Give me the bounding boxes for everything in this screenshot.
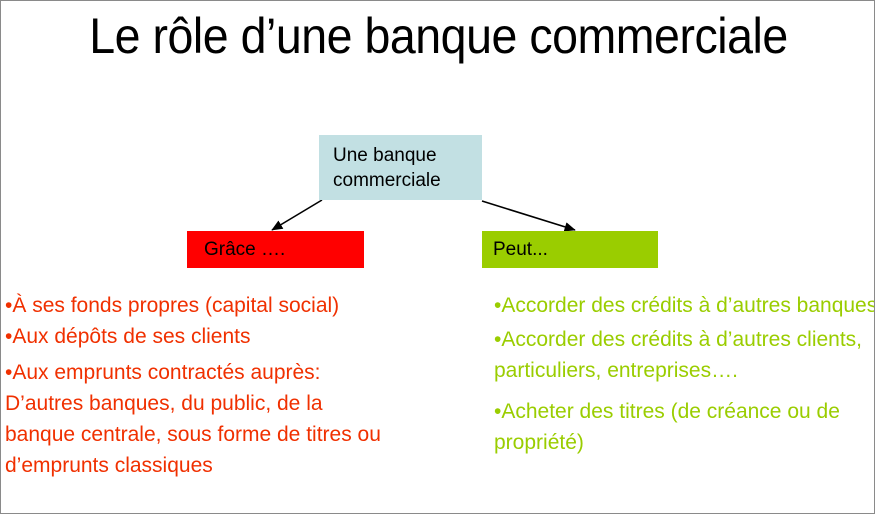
- node-grace[interactable]: Grâce ….: [187, 231, 364, 268]
- arrow-to-grace-icon: [272, 200, 322, 230]
- list-item: •Accorder des crédits à d’autres clients…: [494, 324, 875, 386]
- list-item: •Aux dépôts de ses clients: [5, 321, 390, 352]
- node-label-grace: Grâce ….: [204, 239, 285, 260]
- list-item: •Accorder des crédits à d’autres banques: [494, 290, 875, 321]
- node-label-peut: Peut...: [493, 239, 548, 260]
- slide-canvas: Le rôle d’une banque commerciale Une ban…: [0, 0, 875, 514]
- node-peut[interactable]: Peut...: [482, 231, 658, 268]
- node-label-bank: Une banque commerciale: [333, 145, 441, 191]
- node-une-banque-commerciale[interactable]: Une banque commerciale: [319, 135, 482, 200]
- list-item: •Acheter des titres (de créance ou de pr…: [494, 396, 875, 458]
- list-item: •Aux emprunts contractés auprès: D’autre…: [5, 357, 390, 481]
- arrow-to-peut-icon: [482, 201, 575, 230]
- list-item: •À ses fonds propres (capital social): [5, 290, 390, 321]
- list-peut: •Accorder des crédits à d’autres banques…: [485, 290, 875, 458]
- list-grace: •À ses fonds propres (capital social) •A…: [5, 290, 390, 481]
- page-title: Le rôle d’une banque commerciale: [32, 7, 846, 65]
